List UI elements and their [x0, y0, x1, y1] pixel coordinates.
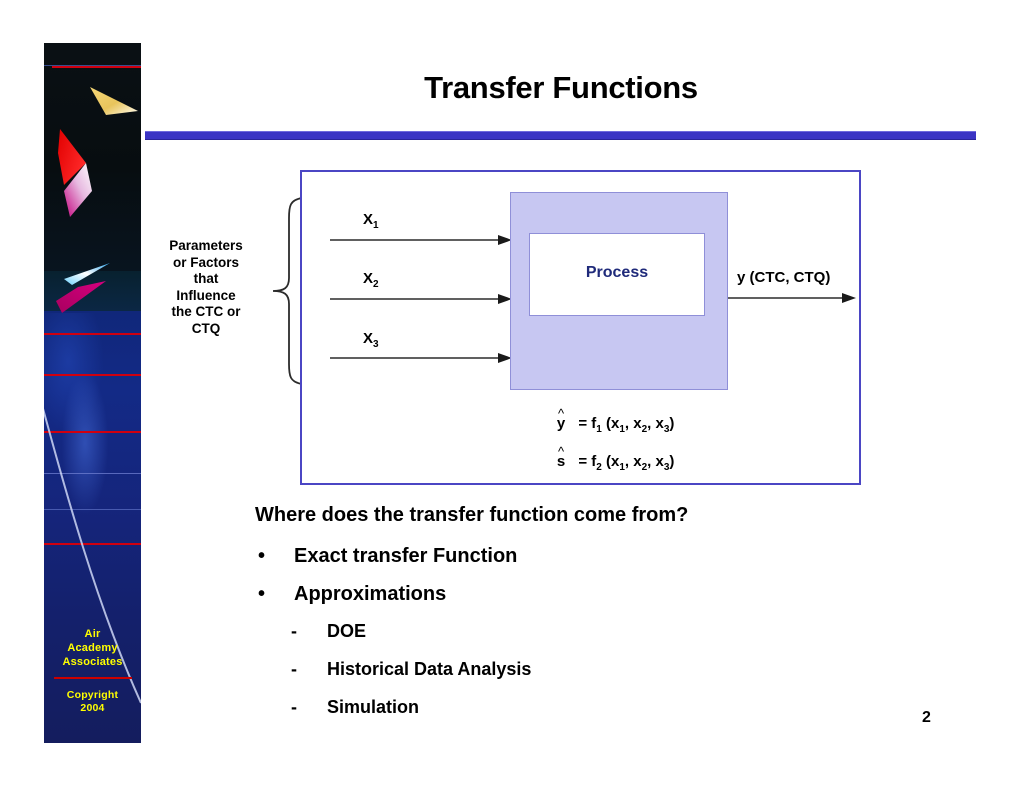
output-label: y (CTC, CTQ)	[737, 269, 830, 286]
formula-lhs-y: ^y	[552, 415, 570, 432]
hat-accent-icon: ^	[552, 406, 570, 421]
bullet-mark: -	[291, 659, 297, 680]
shard-cyan-icon	[52, 261, 114, 319]
factors-caption: Parameters or Factors that Influence the…	[143, 238, 269, 337]
input-arrow-x2	[330, 293, 512, 305]
factors-caption-line: that	[143, 271, 269, 288]
sidebar-divider	[54, 677, 132, 679]
hat-accent-icon: ^	[552, 444, 570, 459]
formula-lhs-s: ^s	[552, 453, 570, 470]
shard-gold-icon	[88, 85, 140, 119]
page-title: Transfer Functions	[141, 70, 981, 106]
sidebar-rule-red-1	[52, 66, 141, 68]
input-label-x2: X2	[363, 270, 379, 290]
slide-canvas: Air Academy Associates Copyright 2004 Tr…	[0, 0, 1024, 791]
bullet-text: Simulation	[327, 697, 419, 718]
input-arrow-x1	[330, 234, 512, 246]
process-box-inner: Process	[529, 233, 705, 316]
shard-magenta-icon	[62, 161, 94, 221]
bullet-text: Approximations	[294, 583, 446, 606]
input-arrow-x3	[330, 352, 512, 364]
sidebar-brand-line-3: Associates	[44, 655, 141, 669]
factors-caption-line: the CTC or	[143, 304, 269, 321]
curly-brace-icon	[268, 196, 304, 386]
process-label: Process	[530, 264, 704, 282]
bullet-mark: -	[291, 621, 297, 642]
sidebar-curve-graphic	[44, 373, 141, 723]
bullet-text: Exact transfer Function	[294, 545, 517, 568]
bullet-text: Historical Data Analysis	[327, 659, 531, 680]
factors-caption-line: or Factors	[143, 255, 269, 272]
formula-s-hat: ^s = f2 (x1, x2, x3)	[552, 453, 674, 473]
input-label-x3: X3	[363, 330, 379, 350]
page-number: 2	[922, 709, 931, 727]
factors-caption-line: Parameters	[143, 238, 269, 255]
bullet-mark: •	[258, 583, 265, 606]
sidebar-rule-red-2	[44, 333, 141, 335]
factors-caption-line: Influence	[143, 288, 269, 305]
decorative-sidebar: Air Academy Associates Copyright 2004	[44, 43, 141, 743]
sidebar-brand-line-2: Academy	[44, 641, 141, 655]
bullet-mark: •	[258, 545, 265, 568]
sidebar-brand-line-1: Air	[44, 627, 141, 641]
bullet-mark: -	[291, 697, 297, 718]
process-box-outer: Process	[510, 192, 728, 390]
sidebar-copyright-line-2: 2004	[44, 702, 141, 715]
bullet-text: DOE	[327, 621, 366, 642]
output-arrow	[728, 292, 856, 304]
title-underline-bar	[145, 131, 976, 140]
sidebar-copyright-line-1: Copyright	[44, 689, 141, 702]
input-label-x1: X1	[363, 211, 379, 231]
sidebar-brand: Air Academy Associates	[44, 627, 141, 669]
formula-y-hat: ^y = f1 (x1, x2, x3)	[552, 415, 674, 435]
factors-caption-line: CTQ	[143, 321, 269, 338]
body-question: Where does the transfer function come fr…	[255, 504, 688, 527]
sidebar-copyright: Copyright 2004	[44, 689, 141, 715]
